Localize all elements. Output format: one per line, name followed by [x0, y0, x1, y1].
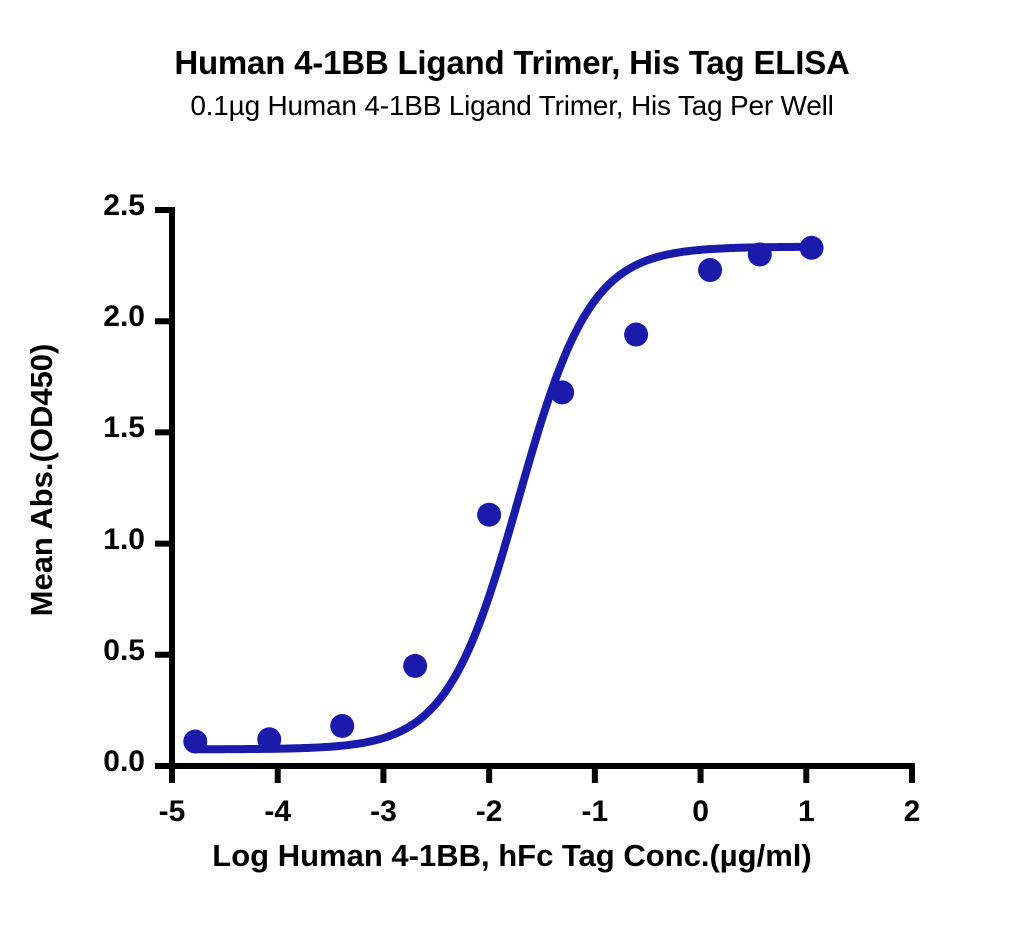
y-tick-label: 2.0: [59, 300, 145, 334]
data-point: [698, 258, 722, 282]
x-tick-label: 2: [882, 795, 942, 829]
data-point: [550, 380, 574, 404]
x-tick-label: 0: [671, 795, 731, 829]
plot-area: [0, 0, 1024, 925]
fit-curve: [195, 247, 811, 749]
y-axis-title: Mean Abs.(OD450): [24, 270, 60, 690]
y-tick-label: 0.5: [59, 634, 145, 668]
x-tick-label: -2: [459, 795, 519, 829]
y-tick-label: 1.0: [59, 523, 145, 557]
y-tick-label: 2.5: [59, 189, 145, 223]
x-tick-label: -1: [565, 795, 625, 829]
elisa-chart-figure: Human 4-1BB Ligand Trimer, His Tag ELISA…: [0, 0, 1024, 925]
data-point: [257, 727, 281, 751]
axes-group: [155, 207, 915, 783]
y-tick-label: 0.0: [59, 745, 145, 779]
x-tick-label: -5: [142, 795, 202, 829]
data-point: [183, 730, 207, 754]
x-tick-label: 1: [776, 795, 836, 829]
sigmoid-fit-line: [195, 247, 811, 749]
y-tick-label: 1.5: [59, 411, 145, 445]
data-point: [748, 242, 772, 266]
data-point: [800, 236, 824, 260]
data-point: [403, 654, 427, 678]
x-tick-label: -4: [248, 795, 308, 829]
data-point: [477, 503, 501, 527]
data-point: [330, 714, 354, 738]
x-tick-label: -3: [353, 795, 413, 829]
data-points: [183, 236, 823, 754]
x-axis-title: Log Human 4-1BB, hFc Tag Conc.(µg/ml): [0, 838, 1024, 874]
data-point: [624, 323, 648, 347]
